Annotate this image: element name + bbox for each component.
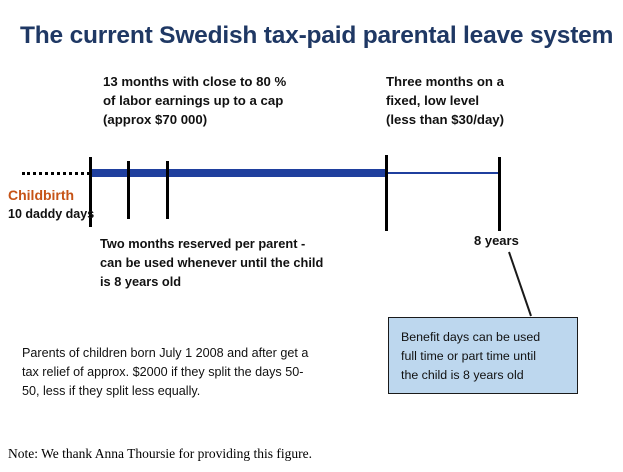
footer-note: Note: We thank Anna Thoursie for providi… — [8, 446, 312, 462]
slide-canvas: The current Swedish tax-paid parental le… — [0, 0, 623, 430]
timeline-bar-benefit-period — [90, 169, 387, 177]
tick-13-months — [385, 155, 388, 231]
tick-8-years — [498, 157, 501, 231]
note-reserved-months: Two months reserved per parent - can be … — [100, 234, 375, 291]
label-8-years: 8 years — [474, 233, 519, 248]
label-daddy-days: 10 daddy days — [8, 207, 94, 221]
tick-month-reserved-1 — [127, 161, 130, 219]
timeline-bar-extension — [386, 172, 500, 174]
tick-month-reserved-2 — [166, 161, 169, 219]
label-childbirth: Childbirth — [8, 187, 74, 203]
callout-box-text: Benefit days can be used full time or pa… — [401, 328, 573, 385]
dotted-lead-line — [22, 172, 90, 175]
paragraph-tax-relief: Parents of children born July 1 2008 and… — [22, 344, 362, 401]
callout-box-benefit-days: Benefit days can be used full time or pa… — [388, 317, 578, 394]
